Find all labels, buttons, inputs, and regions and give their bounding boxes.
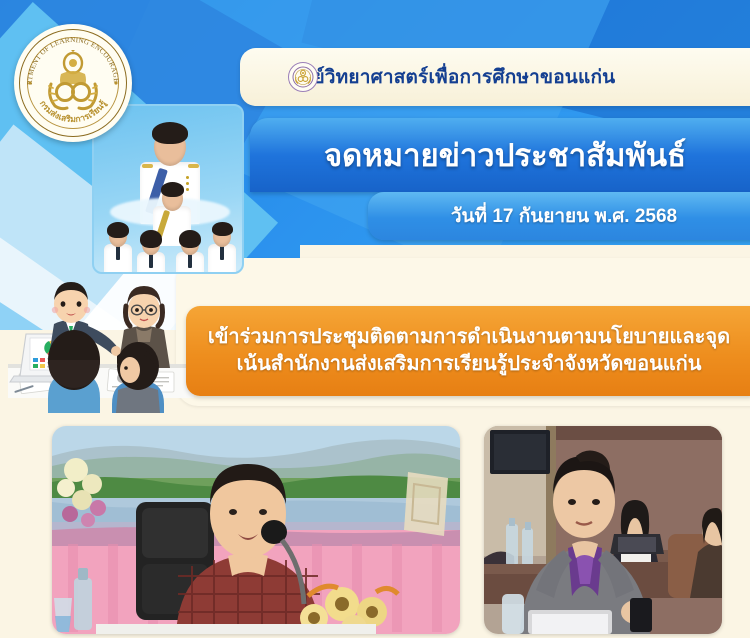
organization-emblem: DEPARTMENT OF LEARNING ENCOURAGEMENT กรม… (14, 24, 132, 142)
photo-speaker-at-microphone (52, 426, 460, 634)
newsletter-poster: DEPARTMENT OF LEARNING ENCOURAGEMENT กรม… (0, 0, 750, 638)
garuda-seal-icon (288, 62, 318, 92)
date-band: วันที่ 17 กันยายน พ.ศ. 2568 (368, 192, 750, 240)
portrait-medal (186, 176, 189, 179)
garuda-crest-icon (43, 50, 103, 116)
portrait-epaulet-right (188, 164, 199, 168)
date-text: วันที่ 17 กันยายน พ.ศ. 2568 (451, 201, 677, 231)
photo-gallery (0, 418, 750, 638)
portrait-medal (186, 182, 189, 185)
headline-panel: เข้าร่วมการประชุมติดตามการดำเนินงานตามนโ… (186, 306, 750, 396)
portrait-tie-3 (116, 246, 120, 260)
headline-line-1: เข้าร่วมการประชุมติดตามการดำเนินงานตามนโ… (208, 325, 730, 350)
main-title-band: จดหมายข่าวประชาสัมพันธ์ (250, 118, 750, 192)
portrait-medal (186, 188, 189, 191)
portrait-tie-5 (188, 254, 192, 268)
portrait-hair-3 (107, 222, 129, 238)
meeting-cartoon-illustration (8, 268, 194, 413)
photo-attendee-in-conference-room (484, 426, 722, 634)
main-title: จดหมายข่าวประชาสัมพันธ์ (324, 130, 686, 180)
portrait-hair-6 (212, 222, 233, 236)
portrait-main-hair (152, 122, 188, 144)
headline-line-2: เน้นสำนักงานส่งเสริมการเรียนรู้ประจำจังห… (237, 352, 702, 377)
portrait-epaulet-left (142, 164, 153, 168)
header-title: ศูนย์วิทยาศาสตร์เพื่อการศึกษาขอนแก่น (288, 62, 615, 92)
portrait-tie-6 (220, 246, 224, 260)
portrait-tie-4 (149, 254, 153, 268)
portrait-hair-2 (161, 182, 184, 197)
portrait-hair-5 (179, 230, 201, 248)
portrait-hair-4 (140, 230, 162, 248)
